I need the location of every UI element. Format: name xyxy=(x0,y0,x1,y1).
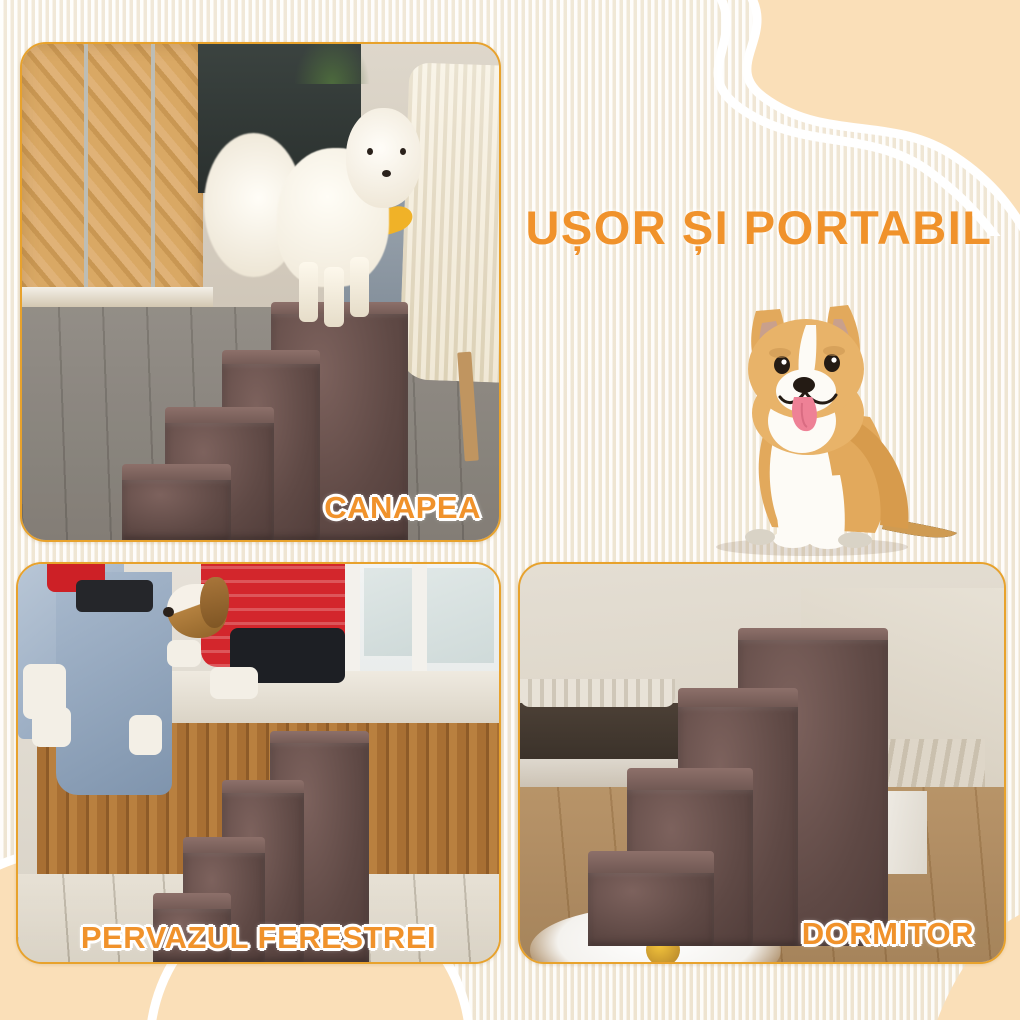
photo-card-window-sill[interactable]: PERVAZUL FERESTREI xyxy=(16,562,501,964)
photo-card-sofa[interactable]: CANAPEA xyxy=(20,42,501,542)
card-caption-window-sill: PERVAZUL FERESTREI xyxy=(81,920,436,956)
page-title: UȘOR ȘI PORTABIL xyxy=(512,200,1006,255)
corgi-illustration xyxy=(660,285,960,560)
pet-stairs-product xyxy=(588,628,888,946)
photo-sofa-scene xyxy=(22,44,499,540)
card-caption-bedroom: DORMITOR xyxy=(802,916,974,952)
photo-bedroom-scene xyxy=(520,564,1004,962)
photo-card-bedroom[interactable]: DORMITOR xyxy=(518,562,1006,964)
beagle-dog xyxy=(157,572,253,660)
pomeranian-dog xyxy=(213,84,428,332)
photo-window-sill-scene xyxy=(18,564,499,962)
card-caption-sofa: CANAPEA xyxy=(324,490,481,526)
infographic-canvas: UȘOR ȘI PORTABIL xyxy=(0,0,1020,1020)
